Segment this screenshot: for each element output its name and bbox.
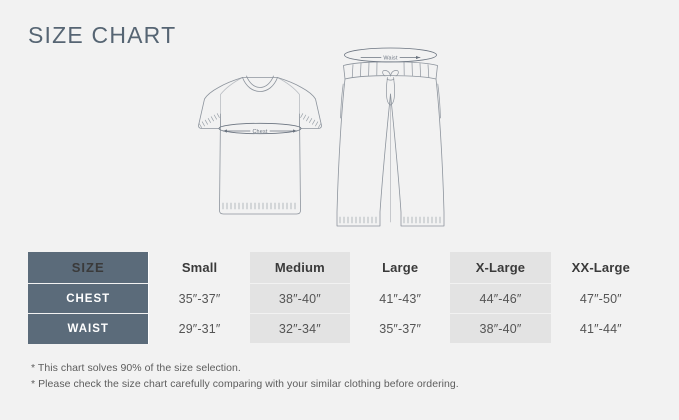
size-chart-table: SIZE Small Medium Large X-Large XX-Large…	[28, 252, 651, 344]
table-row: CHEST 35″-37″ 38″-40″ 41″-43″ 44″-46″ 47…	[28, 284, 651, 314]
t-shirt-illustration: Chest	[196, 70, 324, 240]
column-header-xx-large: XX-Large	[551, 252, 651, 284]
size-chart-page: SIZE CHART	[0, 0, 679, 420]
footnote-2: * Please check the size chart carefully …	[31, 376, 631, 392]
cell-waist-xx-large: 41″-44″	[551, 314, 651, 344]
chest-measure-label: Chest	[252, 129, 267, 135]
cell-waist-small: 29″-31″	[149, 314, 249, 344]
cell-waist-medium: 32″-34″	[250, 314, 350, 344]
column-header-medium: Medium	[250, 252, 350, 284]
column-header-large: Large	[350, 252, 450, 284]
cell-waist-large: 35″-37″	[350, 314, 450, 344]
pants-illustration: Waist	[330, 36, 452, 241]
row-header-chest: CHEST	[28, 284, 149, 314]
footnotes: * This chart solves 90% of the size sele…	[31, 360, 631, 392]
cell-chest-small: 35″-37″	[149, 284, 249, 314]
cell-waist-x-large: 38″-40″	[450, 314, 550, 344]
row-header-waist: WAIST	[28, 314, 149, 344]
garment-illustrations: Chest	[0, 28, 679, 243]
row-header-size: SIZE	[28, 252, 149, 284]
column-header-x-large: X-Large	[450, 252, 550, 284]
footnote-1: * This chart solves 90% of the size sele…	[31, 360, 631, 376]
waist-measure-label: Waist	[383, 55, 398, 61]
table-header-row: SIZE Small Medium Large X-Large XX-Large	[28, 252, 651, 284]
cell-chest-x-large: 44″-46″	[450, 284, 550, 314]
table-row: WAIST 29″-31″ 32″-34″ 35″-37″ 38″-40″ 41…	[28, 314, 651, 344]
cell-chest-medium: 38″-40″	[250, 284, 350, 314]
column-header-small: Small	[149, 252, 249, 284]
cell-chest-xx-large: 47″-50″	[551, 284, 651, 314]
cell-chest-large: 41″-43″	[350, 284, 450, 314]
